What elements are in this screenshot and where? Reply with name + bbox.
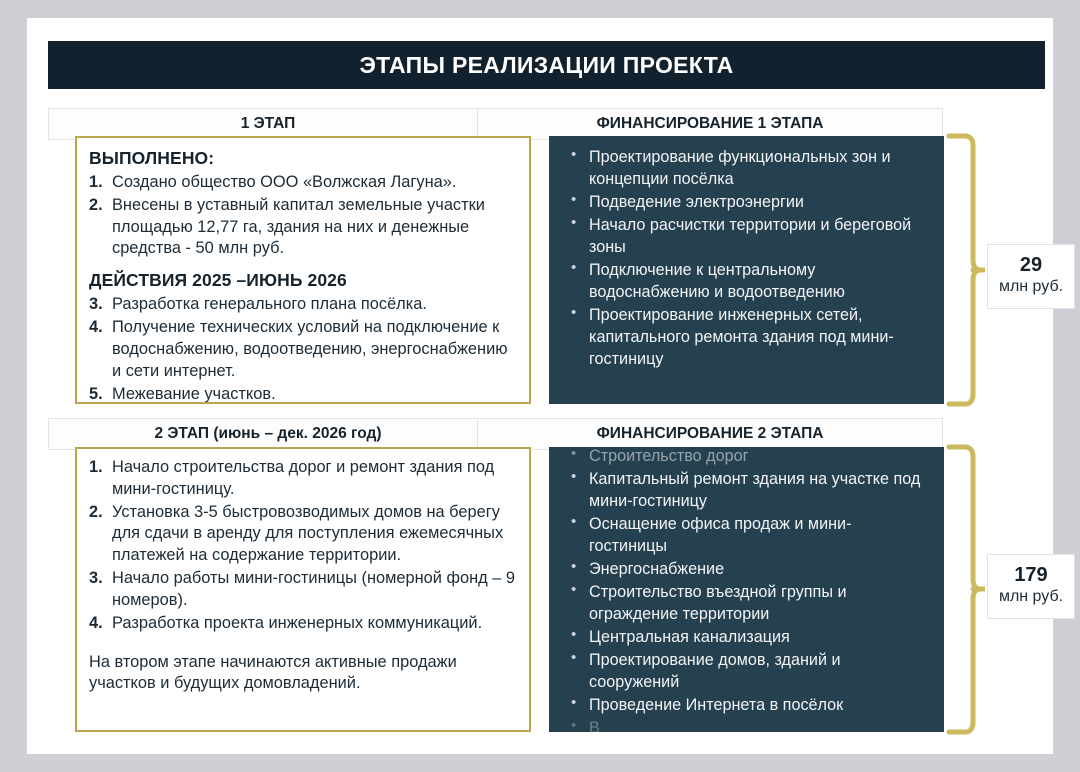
list-item: 4. Получение технических условий на подк… xyxy=(89,317,517,382)
list-item: 1. Создано общество ООО «Волжская Лагуна… xyxy=(89,172,517,194)
list-item: Энергоснабжение xyxy=(567,558,928,580)
finance-1-list: Проектирование функциональных зон и конц… xyxy=(567,146,928,370)
list-item: Проектирование функциональных зон и конц… xyxy=(567,146,928,190)
tab-stage-2-label: 2 ЭТАП (июнь – дек. 2026 год) xyxy=(154,425,381,443)
value-amount: 29 xyxy=(998,254,1064,277)
slide-header-bar: ЭТАПЫ РЕАЛИЗАЦИИ ПРОЕКТА xyxy=(48,41,1045,89)
list-item: Начало расчистки территории и береговой … xyxy=(567,214,928,258)
stage-1-done-list: 1. Создано общество ООО «Волжская Лагуна… xyxy=(89,172,517,260)
stage-2-list: 1. Начало строительства дорог и ремонт з… xyxy=(89,457,517,635)
tab-finance-1-label: ФИНАНСИРОВАНИЕ 1 ЭТАПА xyxy=(597,115,824,133)
list-item-clipped-bottom: В xyxy=(567,717,928,732)
list-item: 3. Разработка генерального плана посёлка… xyxy=(89,294,517,316)
value-amount: 179 xyxy=(998,564,1064,587)
list-item: 5. Межевание участков. xyxy=(89,384,517,405)
list-item: Проведение Интернета в посёлок xyxy=(567,694,928,716)
page-title: ЭТАПЫ РЕАЛИЗАЦИИ ПРОЕКТА xyxy=(359,52,733,79)
panel-finance-1: Проектирование функциональных зон и конц… xyxy=(549,136,944,404)
value-callout-stage-2: 179 млн руб. xyxy=(987,554,1075,619)
list-text: Получение технических условий на подключ… xyxy=(112,318,508,380)
list-marker: 2. xyxy=(89,502,103,524)
list-item: Подведение электроэнергии xyxy=(567,191,928,213)
list-marker: 1. xyxy=(89,172,103,194)
list-item: 2. Установка 3-5 быстровозводимых домов … xyxy=(89,502,517,567)
panel-stage-1: ВЫПОЛНЕНО: 1. Создано общество ООО «Волж… xyxy=(75,136,531,404)
panel-stage-2: 1. Начало строительства дорог и ремонт з… xyxy=(75,447,531,732)
list-item: Строительство въездной группы и огражден… xyxy=(567,581,928,625)
list-text: Создано общество ООО «Волжская Лагуна». xyxy=(112,173,456,191)
list-marker: 1. xyxy=(89,457,103,479)
value-callout-stage-1: 29 млн руб. xyxy=(987,244,1075,309)
tab-finance-2[interactable]: ФИНАНСИРОВАНИЕ 2 ЭТАПА xyxy=(477,418,943,450)
tab-stage-1-label: 1 ЭТАП xyxy=(241,115,296,133)
value-unit: млн руб. xyxy=(998,587,1064,608)
list-item: Центральная канализация xyxy=(567,626,928,648)
list-text: Внесены в уставный капитал земельные уча… xyxy=(112,196,485,258)
finance-2-list: Строительство дорог Капитальный ремонт з… xyxy=(567,447,928,732)
list-item: Проектирование домов, зданий и сооружени… xyxy=(567,649,928,693)
list-item-clipped-top: Строительство дорог xyxy=(567,447,928,467)
list-text: Начало работы мини-гостиницы (номерной ф… xyxy=(112,569,515,609)
brace-stage-1 xyxy=(943,132,985,408)
tab-finance-2-label: ФИНАНСИРОВАНИЕ 2 ЭТАПА xyxy=(597,425,824,443)
stage-1-done-heading: ВЫПОЛНЕНО: xyxy=(89,148,517,169)
list-item: 2. Внесены в уставный капитал земельные … xyxy=(89,195,517,260)
list-item: 3. Начало работы мини-гостиницы (номерно… xyxy=(89,568,517,612)
brace-stage-2 xyxy=(943,443,985,736)
list-item: Капитальный ремонт здания на участке под… xyxy=(567,468,928,512)
list-item: 1. Начало строительства дорог и ремонт з… xyxy=(89,457,517,501)
list-marker: 4. xyxy=(89,317,103,339)
value-unit: млн руб. xyxy=(998,277,1064,298)
slide-frame: ЭТАПЫ РЕАЛИЗАЦИИ ПРОЕКТА 1 ЭТАП ФИНАНСИР… xyxy=(27,18,1053,754)
stage-1-actions-heading: ДЕЙСТВИЯ 2025 –ИЮНЬ 2026 xyxy=(89,270,517,291)
list-item: Подключение к центральному водоснабжению… xyxy=(567,259,928,303)
tab-stage-2[interactable]: 2 ЭТАП (июнь – дек. 2026 год) xyxy=(48,418,488,450)
list-marker: 4. xyxy=(89,613,103,635)
list-text: Разработка генерального плана посёлка. xyxy=(112,295,427,313)
list-marker: 3. xyxy=(89,568,103,590)
panel-finance-2: Строительство дорог Капитальный ремонт з… xyxy=(549,447,944,732)
list-marker: 2. xyxy=(89,195,103,217)
stage-1-actions-list: 3. Разработка генерального плана посёлка… xyxy=(89,294,517,404)
list-item: Оснащение офиса продаж и мини-гостиницы xyxy=(567,513,928,557)
list-marker: 3. xyxy=(89,294,103,316)
stage-2-note: На втором этапе начинаются активные прод… xyxy=(89,652,517,696)
list-text: Начало строительства дорог и ремонт здан… xyxy=(112,458,494,498)
list-text: Межевание участков. xyxy=(112,385,276,403)
list-text: Разработка проекта инженерных коммуникац… xyxy=(112,614,482,632)
list-marker: 5. xyxy=(89,384,103,405)
list-text: Установка 3-5 быстровозводимых домов на … xyxy=(112,503,503,565)
list-item: 4. Разработка проекта инженерных коммуни… xyxy=(89,613,517,635)
list-item: Проектирование инженерных сетей, капитал… xyxy=(567,304,928,370)
